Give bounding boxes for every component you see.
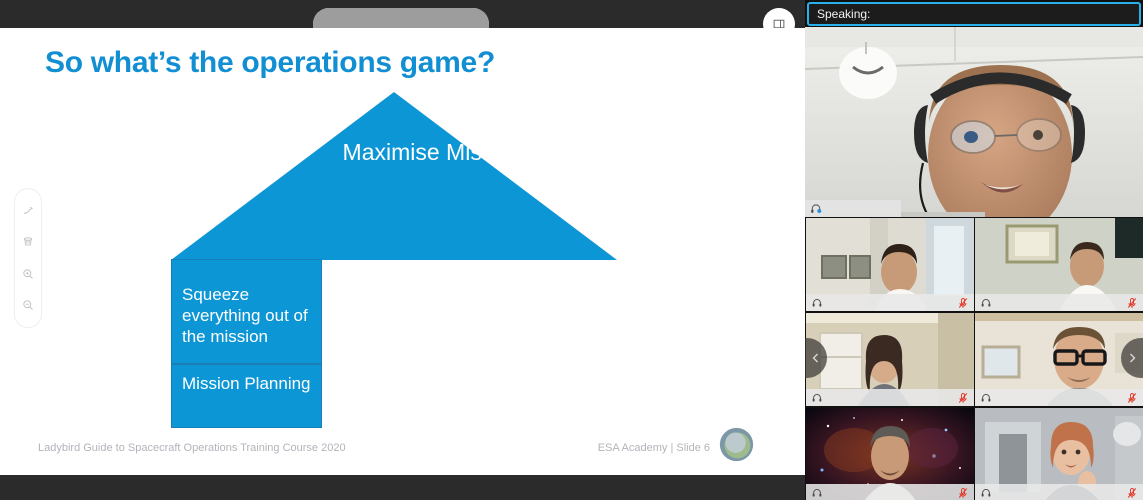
- box-squeeze: Squeeze everything out of the mission: [171, 259, 322, 364]
- participant-tile-6[interactable]: [975, 408, 1143, 500]
- participant-tile-3-bar: [806, 389, 974, 406]
- active-speaker-tile[interactable]: [805, 27, 1143, 217]
- box-squeeze-label: Squeeze everything out of the mission: [182, 284, 315, 347]
- zoom-out-button[interactable]: [18, 295, 38, 315]
- zoom-in-icon: [22, 268, 34, 280]
- annotation-tool-rail[interactable]: [14, 188, 42, 328]
- active-speaker-tile-bar: [805, 200, 901, 217]
- participant-tile-4-bar: [975, 389, 1143, 406]
- triangle-label: Maximise Mission Return: [331, 138, 611, 166]
- mic-muted-icon: [1126, 487, 1138, 499]
- share-bottom-bar: [0, 475, 805, 500]
- participant-tile-6-bar: [975, 484, 1143, 500]
- headset-icon: [980, 487, 992, 499]
- eraser-icon: [22, 236, 34, 248]
- slide-title: So what’s the operations game?: [45, 46, 495, 80]
- box-mission-planning: Mission Planning: [171, 364, 322, 428]
- mic-muted-icon: [957, 487, 969, 499]
- esa-academy-logo: [718, 426, 755, 463]
- mic-muted-icon: [957, 297, 969, 309]
- active-speaker-video: [805, 27, 1143, 217]
- headset-icon: [810, 203, 822, 215]
- participant-tile-5[interactable]: [806, 408, 974, 500]
- speaking-label: Speaking:: [817, 7, 870, 21]
- speaking-indicator: Speaking:: [807, 2, 1141, 26]
- participant-tile-3[interactable]: [806, 313, 974, 406]
- eraser-button[interactable]: [18, 232, 38, 252]
- video-panel: Speaking:: [805, 0, 1143, 500]
- participant-tile-5-bar: [806, 484, 974, 500]
- chevron-left-icon: [811, 353, 821, 363]
- participant-tile-1[interactable]: [806, 218, 974, 311]
- slide-footer-left: Ladybird Guide to Spacecraft Operations …: [38, 442, 346, 454]
- mic-muted-icon: [1126, 392, 1138, 404]
- slide-footer-right: ESA Academy | Slide 6: [598, 442, 710, 454]
- mic-muted-icon: [957, 392, 969, 404]
- participant-tile-4[interactable]: [975, 313, 1143, 406]
- participant-tile-2[interactable]: [975, 218, 1143, 311]
- slide-canvas[interactable]: So what’s the operations game? Maximise …: [0, 28, 805, 475]
- box-mission-planning-label: Mission Planning: [182, 373, 315, 394]
- participant-tile-2-bar: [975, 294, 1143, 311]
- headset-icon: [980, 392, 992, 404]
- screen-share-area: So what’s the operations game? Maximise …: [0, 0, 805, 500]
- chevron-right-icon: [1127, 353, 1137, 363]
- triangle-shape: Maximise Mission Return: [171, 92, 617, 260]
- headset-icon: [980, 297, 992, 309]
- headset-icon: [811, 487, 823, 499]
- annotation-toolbar-handle[interactable]: [313, 8, 489, 29]
- participant-grid: [805, 218, 1143, 500]
- headset-icon: [811, 297, 823, 309]
- zoom-out-icon: [22, 299, 34, 311]
- participant-tile-1-bar: [806, 294, 974, 311]
- pen-button[interactable]: [18, 201, 38, 221]
- mic-muted-icon: [1126, 297, 1138, 309]
- zoom-in-button[interactable]: [18, 264, 38, 284]
- pen-icon: [22, 205, 34, 217]
- meeting-window: So what’s the operations game? Maximise …: [0, 0, 1143, 500]
- headset-icon: [811, 392, 823, 404]
